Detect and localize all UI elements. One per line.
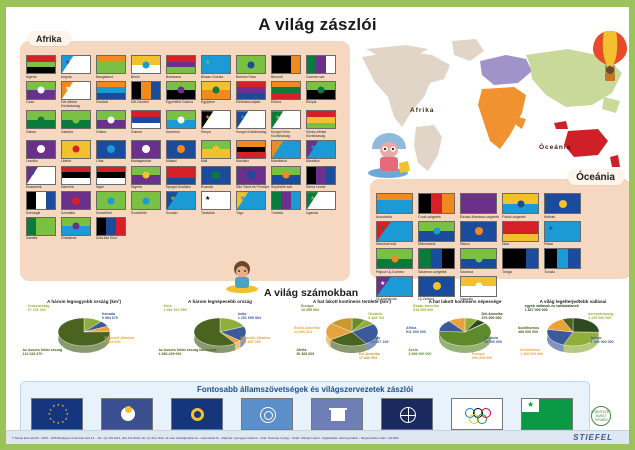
africa-flag-icon — [306, 166, 336, 185]
africa-flag-cell[interactable]: Zimbabwe — [61, 217, 96, 241]
pie-slice-label: buddhizmus488 000 000 — [518, 326, 539, 334]
chart-most-populous-countries: A három legnépesebb országKína1 361 512 … — [156, 299, 284, 377]
africa-flag-label: Kongói Köztársaság — [236, 130, 270, 134]
africa-flag-cell[interactable]: ★Mauritánia — [271, 140, 306, 164]
africa-flag-cell[interactable]: Botswana — [166, 55, 201, 79]
africa-flag-icon: ★ — [306, 140, 336, 159]
oceania-flag-cell[interactable]: Niue — [502, 221, 544, 247]
africa-flag-icon — [61, 191, 91, 210]
oceania-flag-label: Salamon-szigetek — [418, 270, 459, 274]
oceania-flag-cell[interactable]: Vanuatu — [460, 276, 502, 302]
pie-slice-value: 24 506 524 — [294, 330, 312, 334]
africa-flag-cell[interactable]: Tunézia — [271, 191, 306, 215]
africa-flag-cell[interactable]: ★Dél-Afrikai Köztársaság — [61, 81, 96, 109]
africa-flag-icon — [271, 81, 301, 100]
oceania-flag-icon — [460, 193, 497, 214]
pie-slice-value: 518 000 000 — [413, 308, 433, 312]
africa-flag-label: Szváziföld — [131, 211, 165, 215]
oceania-flag-cell[interactable]: Mikronézia — [418, 221, 460, 247]
africa-flag-label: Mauritius — [306, 159, 340, 163]
africa-flag-cell[interactable]: Gambia — [61, 110, 96, 138]
africa-flag-label: Líbia — [96, 159, 130, 163]
africa-flag-cell[interactable]: Nigéria — [131, 166, 166, 190]
oceania-flag-icon — [418, 248, 455, 269]
africa-flag-label: Banglaland — [96, 75, 130, 79]
africa-flag-icon — [166, 81, 196, 100]
africa-flag-cell[interactable]: ★Kenya — [201, 110, 236, 138]
africa-flag-label: Nigéria — [131, 185, 165, 189]
africa-flag-label: Kamerun — [166, 130, 200, 134]
africa-flag-cell[interactable]: Ruanda — [201, 166, 236, 190]
poster-root: A világ zászlói Afrika Óceánia — [0, 0, 635, 450]
africa-flag-icon — [236, 166, 266, 185]
africa-flag-icon — [96, 166, 126, 185]
africa-flag-icon — [306, 81, 336, 100]
map-label-africa: Afrika — [410, 107, 434, 114]
africa-flag-icon — [26, 191, 56, 210]
africa-flag-cell[interactable]: Kamerun — [166, 110, 201, 138]
africa-flag-cell[interactable]: Gabon — [26, 110, 61, 138]
oceania-flag-cell[interactable]: Új-Zéland — [418, 276, 460, 302]
africa-flag-label: Malawi — [166, 159, 200, 163]
africa-flag-label: Mauritánia — [271, 159, 305, 163]
africa-flag-label: Benin — [131, 75, 165, 79]
pie-slice-label: iszlám1 600 000 000 — [591, 336, 614, 344]
africa-flag-icon — [201, 166, 231, 185]
oceania-flag-grid: AusztráliaCook-szigetekÉszaki-Mariana-sz… — [376, 193, 626, 303]
africa-flag-icon — [201, 81, 231, 100]
africa-flag-icon — [131, 110, 161, 129]
africa-flag-label: Marokkó — [236, 159, 270, 163]
africa-flag-icon: ★ — [306, 191, 336, 210]
africa-flag-label: Zimbabwe — [61, 236, 95, 240]
africa-flag-cell[interactable]: Szomália — [61, 191, 96, 215]
africa-flag-icon: ★ — [26, 166, 56, 185]
oceania-heading: Óceánia — [568, 170, 624, 185]
africa-flag-icon — [306, 110, 336, 129]
africa-flag-cell[interactable]: Csád — [26, 81, 61, 109]
pie-chart: Európa10 395 504Óceánia8 428 702Ázsia31 … — [294, 308, 410, 366]
africa-flag-icon — [96, 140, 126, 159]
oceania-flag-icon — [418, 193, 455, 214]
organization-flag-icon: ★★★★★★★★★★★★ — [31, 398, 83, 430]
oceania-flag-cell[interactable]: Fidzsi-szigetek — [502, 193, 544, 219]
oceania-flag-cell[interactable]: Szamoa — [460, 248, 502, 274]
africa-flag-label: Comore-szk. — [306, 75, 340, 79]
africa-flag-label: Dél-Szudán — [131, 100, 165, 104]
africa-flag-label: São Tomé és Príncipe — [236, 185, 270, 189]
oceania-flag-label: Ausztrália — [376, 215, 417, 219]
oceania-flag-cell[interactable]: Pápua Új-Guinea — [376, 248, 418, 274]
africa-flag-icon — [61, 166, 91, 185]
africa-flag-icon — [131, 166, 161, 185]
stats-heading: A világ számokban — [264, 287, 358, 299]
chart-continent-population: A hat lakott kontinens népességeÉszak-Am… — [406, 299, 524, 377]
africa-flag-label: Gambia — [61, 130, 95, 134]
organization-flag-icon: ★ — [521, 398, 573, 430]
pie-slice-value: 17 101 230 — [28, 308, 46, 312]
africa-flag-cell[interactable]: Zöld-foki Közt. — [96, 217, 131, 241]
africa-flag-icon: ★ — [61, 55, 91, 74]
hot-air-balloon-illustration — [590, 29, 630, 83]
pie-slice-label: Észak-Amerika518 000 000 — [413, 304, 439, 312]
pie-slice-label: Egyesült Államok321 362 789 — [240, 336, 270, 344]
oceania-flag-icon — [376, 193, 413, 214]
africa-flag-label: Ghána — [96, 130, 130, 134]
africa-flag-icon — [236, 140, 266, 159]
africa-flag-icon — [271, 191, 301, 210]
oceania-flag-icon — [502, 248, 539, 269]
oceania-flag-icon — [418, 221, 455, 242]
africa-flag-icon — [96, 191, 126, 210]
pie-chart: egyéb vallások és vallástalanok1 827 000… — [518, 308, 628, 366]
africa-flag-icon — [26, 55, 56, 74]
pie-slice-label: kereszténység2 220 000 000 — [588, 312, 613, 320]
africa-flag-cell[interactable]: Egyiptom — [201, 81, 236, 109]
oceania-flag-cell[interactable]: Tuvalu — [544, 248, 586, 274]
pie-slice-value: 17 846 954 — [359, 356, 377, 360]
africa-flag-icon — [131, 140, 161, 159]
oceania-flag-icon — [418, 276, 455, 297]
africa-flag-cell[interactable]: Szváziföld — [96, 191, 131, 215]
organization-flag-icon — [241, 398, 293, 430]
africa-flag-cell[interactable]: Libéria — [61, 140, 96, 164]
oceania-flag-icon — [460, 276, 497, 297]
chart-continent-area: A hat lakott kontinens területe (km²)Eur… — [294, 299, 410, 377]
africa-flag-icon — [96, 110, 126, 129]
africa-flag-icon: ★ — [236, 110, 266, 129]
africa-flag-icon — [236, 81, 266, 100]
oceania-flag-cell[interactable]: Salamon-szigetek — [418, 248, 460, 274]
brand-logo: STIEFEL — [573, 433, 629, 442]
africa-flag-cell[interactable]: Eritrea — [271, 81, 306, 109]
pie-slice-label: Az összes többi ország lakossága4 380 42… — [159, 348, 217, 356]
africa-flag-cell[interactable]: Dél-Szudán — [131, 81, 166, 109]
oceania-flag-label: Fidzsi-szigetek — [502, 215, 543, 219]
africa-flag-label: Guinea — [131, 130, 165, 134]
oceania-flag-cell[interactable]: Északi-Mariana-szigetek — [460, 193, 502, 219]
oceania-flag-icon: ★ — [376, 221, 413, 242]
organization-flag-icon — [451, 398, 503, 430]
africa-flag-label: Kenya — [201, 130, 235, 134]
africa-flag-icon — [61, 140, 91, 159]
africa-flag-icon: ★ — [201, 55, 231, 74]
africa-flag-label: Mozambik — [26, 185, 60, 189]
africa-flag-label: Elefántcsontpart — [236, 100, 270, 104]
africa-flag-label: Burkina Faso — [236, 75, 270, 79]
africa-flag-label: Etiópia — [306, 100, 340, 104]
africa-flag-cell[interactable]: Burundi — [271, 55, 306, 79]
africa-flag-cell[interactable]: Malawi — [166, 140, 201, 164]
oceania-flag-cell[interactable]: Kiribati — [544, 193, 586, 219]
africa-flag-cell[interactable]: São Tomé és Príncipe — [236, 166, 271, 190]
pie-slice-value: 1 361 512 535 — [164, 308, 187, 312]
africa-flag-cell[interactable]: ★Szudán — [166, 191, 201, 215]
africa-flag-cell[interactable]: ★Mozambik — [26, 166, 61, 190]
africa-flag-icon: ★ — [201, 110, 231, 129]
africa-flag-label: Libéria — [61, 159, 95, 163]
africa-flag-cell[interactable]: Comore-szk. — [306, 55, 341, 79]
africa-flag-icon — [96, 81, 126, 100]
africa-flag-label: Lesotho — [26, 159, 60, 163]
oceania-flag-label: Nauru — [460, 242, 501, 246]
africa-flag-icon: ★ — [271, 110, 301, 129]
pie-slice-value: 321 362 789 — [240, 340, 260, 344]
pie-slice-label: Óceánia8 428 702 — [368, 312, 384, 320]
pie-slice-value: 1 600 000 000 — [591, 340, 614, 344]
oceania-flag-label: Tuvalu — [544, 270, 585, 274]
africa-flag-label: Egyiptom — [201, 100, 235, 104]
africa-flag-label: Angola — [61, 75, 95, 79]
africa-flag-label: Seychelle-szk. — [271, 185, 305, 189]
pie-slice-label: India1 251 695 584 — [238, 312, 261, 320]
africa-flag-cell[interactable]: Zambia — [26, 217, 61, 241]
oceania-flag-icon — [544, 248, 581, 269]
pie-slice-value: 376 000 000 — [482, 316, 502, 320]
africa-flag-cell[interactable]: Mali — [201, 140, 236, 164]
africa-flag-icon — [166, 110, 196, 129]
eco-label-icon: KÖRNYEZET BARÁT TERMÉK — [591, 406, 611, 426]
africa-flag-cell[interactable]: Etiópia — [306, 81, 341, 109]
pie-slice-value: 31 027 230 — [371, 340, 389, 344]
oceania-flag-icon — [502, 193, 539, 214]
africa-flag-icon: ★ — [201, 191, 231, 210]
africa-flag-cell[interactable]: ★Uganda — [306, 191, 341, 215]
africa-flag-cell[interactable]: Sierra Leone — [306, 166, 341, 190]
pie-chart: Észak-Amerika518 000 000Dél-Amerika376 0… — [406, 308, 524, 366]
africa-flag-cell[interactable]: ★Angola — [61, 55, 96, 79]
africa-flag-cell[interactable]: Burkina Faso — [236, 55, 271, 79]
africa-flag-label: Szomália — [61, 211, 95, 215]
africa-flag-label: Botswana — [166, 75, 200, 79]
pie-slice-label: Egyesült Államok9 826 630 — [104, 336, 134, 344]
pie-slice-label: egyéb vallások és vallástalanok1 827 000… — [525, 304, 579, 312]
oceania-flag-cell[interactable]: Cook-szigetek — [418, 193, 460, 219]
africa-flag-label: Namíbia — [61, 185, 95, 189]
africa-flag-icon — [306, 55, 336, 74]
africa-flag-cell[interactable]: Közép-Afrikai Köztársaság — [306, 110, 341, 138]
pie-chart: Oroszország17 101 230Kanada9 984 670Egye… — [20, 308, 148, 366]
africa-flag-icon — [61, 110, 91, 129]
africa-flag-label: Bissau-Guinea — [201, 75, 235, 79]
oceania-flag-label: Cook-szigetek — [418, 215, 459, 219]
oceania-flag-icon — [460, 248, 497, 269]
oceania-flag-cell[interactable]: ★Palau — [544, 221, 586, 247]
pie-slice-label: Észak-Amerika24 506 524 — [294, 326, 320, 334]
africa-flag-cell[interactable]: Madagaszkár — [131, 140, 166, 164]
pie-slice-label: Európa690 000 000 — [472, 352, 492, 360]
oceania-flag-icon — [544, 193, 581, 214]
pie-chart: Kína1 361 512 535India1 251 695 584Egyes… — [156, 308, 284, 366]
africa-flag-cell[interactable]: ★Togo — [236, 191, 271, 215]
pie-slice-label: Oroszország17 101 230 — [28, 304, 50, 312]
organizations-heading: Fontosabb államszövetségek és világszerv… — [21, 385, 589, 394]
africa-flag-cell[interactable]: Elefántcsontpart — [236, 81, 271, 109]
africa-flag-icon — [271, 55, 301, 74]
africa-flag-icon — [61, 217, 91, 236]
oceania-flag-cell[interactable]: Nauru — [460, 221, 502, 247]
africa-flag-icon — [131, 191, 161, 210]
pie-slice-label: Óceánia33 000 000 — [484, 336, 502, 344]
africa-flag-label: Kongói Dem. Köztársaság — [271, 130, 305, 138]
africa-flag-label: Közép-Afrikai Köztársaság — [306, 130, 340, 138]
africa-flag-icon — [201, 140, 231, 159]
oceania-flag-label: Marshall-szk. — [376, 242, 417, 246]
africa-flag-label: Dél-Afrikai Köztársaság — [61, 100, 95, 108]
oceania-flag-icon: ★ — [544, 221, 581, 242]
africa-flag-cell[interactable]: Marokkó — [236, 140, 271, 164]
africa-flag-label: Sierra Leone — [306, 185, 340, 189]
oceania-flag-label: Kiribati — [544, 215, 585, 219]
oceania-flag-icon — [376, 248, 413, 269]
oceania-flag-label: Mikronézia — [418, 242, 459, 246]
pie-slice-label: Afrika30 368 609 — [296, 348, 314, 356]
africa-flag-cell[interactable]: Nyugat-Szahara — [166, 166, 201, 190]
africa-flag-label: Szudán — [166, 211, 200, 215]
africa-flag-label: Egyenlítői-Guinea — [166, 100, 200, 104]
africa-flag-icon — [166, 166, 196, 185]
pie-slice-value: 33 000 000 — [484, 340, 502, 344]
africa-flag-label: Mali — [201, 159, 235, 163]
pie-slice-value: 8 428 702 — [368, 316, 384, 320]
pie-slice-label: Európa10 395 504 — [301, 304, 319, 312]
africa-flag-icon — [166, 55, 196, 74]
eco-label-text: KÖRNYEZET BARÁT TERMÉK — [591, 410, 610, 422]
organization-flag-icon — [381, 398, 433, 430]
africa-flag-label: Madagaszkár — [131, 159, 165, 163]
africa-flag-cell[interactable]: ★Bissau-Guinea — [201, 55, 236, 79]
oceania-flag-cell[interactable]: Tonga — [502, 248, 544, 274]
africa-flag-label: Algéria — [26, 75, 60, 79]
pie-slice-label: Az összes többi ország112 026 470 — [23, 348, 63, 356]
map-label-oceania: Óceánia — [539, 144, 571, 151]
africa-flag-cell[interactable]: Lesotho — [26, 140, 61, 164]
africa-flag-cell[interactable]: Seychelle-szk. — [271, 166, 306, 190]
africa-flag-label: Togo — [236, 211, 270, 215]
africa-flag-label: Ruanda — [201, 185, 235, 189]
africa-flag-cell[interactable]: Ghána — [96, 110, 131, 138]
africa-heading: Afrika — [28, 32, 71, 46]
pie-slice-value: 1 251 695 584 — [238, 316, 261, 320]
pie-slice-value: 9 984 670 — [102, 316, 118, 320]
oceania-flag-label: Palau — [544, 242, 585, 246]
africa-flag-cell[interactable]: Algéria — [26, 55, 61, 79]
africa-flag-icon — [26, 81, 56, 100]
africa-flag-icon — [271, 166, 301, 185]
pie-slice-label: Kanada9 984 670 — [102, 312, 118, 320]
africa-flag-label: Nyugat-Szahara — [166, 185, 200, 189]
pie-slice-label: Dél-Amerika376 000 000 — [482, 312, 503, 320]
pie-slice-value: 911 000 000 — [406, 330, 426, 334]
pie-slice-value: 10 395 504 — [301, 308, 319, 312]
oceania-flag-label: Niue — [502, 242, 543, 246]
pie-slice-value: 30 368 609 — [296, 352, 314, 356]
oceania-flags-panel: Óceánia AusztráliaCook-szigetekÉszaki-Ma… — [370, 179, 632, 279]
africa-flag-icon — [26, 217, 56, 236]
africa-flag-cell[interactable]: Niger — [96, 166, 131, 190]
pie-slice-value: 4 380 429 092 — [159, 352, 182, 356]
pie-slice-label: Afrika911 000 000 — [406, 326, 426, 334]
footer-credits: © Stiefel Eurocart Kft., 2015 - 1155 Bud… — [6, 436, 573, 440]
africa-flag-cell[interactable]: Namíbia — [61, 166, 96, 190]
oceania-flag-cell[interactable]: ★Új-Kaledónia — [376, 276, 418, 302]
africa-flag-label: Csád — [26, 100, 60, 104]
oceania-flag-label: Szamoa — [460, 270, 501, 274]
footer-bar: © Stiefel Eurocart Kft., 2015 - 1155 Bud… — [6, 430, 629, 444]
oceania-flag-icon: ★ — [376, 276, 413, 297]
africa-flag-cell[interactable]: Dzsibuti — [96, 81, 131, 109]
africa-flag-icon — [166, 140, 196, 159]
africa-flag-label: Niger — [96, 185, 130, 189]
child-illustration — [224, 259, 260, 293]
africa-flag-icon — [131, 81, 161, 100]
pie-slice-value: 3 998 000 000 — [408, 352, 431, 356]
africa-flag-cell[interactable]: Egyenlítői-Guinea — [166, 81, 201, 109]
africa-flag-label: Gabon — [26, 130, 60, 134]
chart-largest-countries: A három legnagyobb ország (km²)Oroszorsz… — [20, 299, 148, 377]
oceania-flag-label: Északi-Mariana-szigetek — [460, 215, 501, 219]
africa-flag-cell[interactable]: Banglaland — [96, 55, 131, 79]
oceania-flag-label: Pápua Új-Guinea — [376, 270, 417, 274]
oceania-flag-cell[interactable]: Ausztrália — [376, 193, 418, 219]
africa-flag-icon — [26, 110, 56, 129]
africa-flag-icon: ★ — [236, 191, 266, 210]
africa-flag-label: Eritrea — [271, 100, 305, 104]
pie-slice-label: hinduizmus1 100 000 000 — [520, 348, 543, 356]
africa-flag-icon: ★ — [271, 140, 301, 159]
oceania-flag-label: Tonga — [502, 270, 543, 274]
pie-slice-label: Dél-Amerika17 846 954 — [359, 352, 380, 360]
world-map: Afrika Óceánia — [354, 31, 635, 181]
africa-flag-label: Uganda — [306, 211, 340, 215]
africa-flag-label: Zambia — [26, 236, 60, 240]
pie-slice-value: 1 827 000 000 — [525, 308, 548, 312]
africa-flag-cell[interactable]: Szenegál — [26, 191, 61, 215]
pie-slice-value: 9 826 630 — [104, 340, 120, 344]
oceania-flag-icon — [460, 221, 497, 242]
africa-flag-cell[interactable]: ★Mauritius — [306, 140, 341, 164]
pie-slice-value: 690 000 000 — [472, 356, 492, 360]
africa-flag-cell[interactable]: ★Kongói Dem. Köztársaság — [271, 110, 306, 138]
africa-flag-icon: ★ — [166, 191, 196, 210]
africa-flag-cell[interactable]: Líbia — [96, 140, 131, 164]
pie-slice-value: 112 026 470 — [23, 352, 43, 356]
africa-flag-label: Tanzánia — [201, 211, 235, 215]
africa-flags-panel: Afrika Algéria★AngolaBanglalandBeninBots… — [20, 41, 350, 281]
organization-flag-icon — [311, 398, 363, 430]
africa-flag-cell[interactable]: ★Tanzánia — [201, 191, 236, 215]
africa-flag-cell[interactable]: Guinea — [131, 110, 166, 138]
africa-flag-cell[interactable]: Benin — [131, 55, 166, 79]
africa-flag-cell[interactable]: ★Kongói Köztársaság — [236, 110, 271, 138]
africa-flag-label: Burundi — [271, 75, 305, 79]
africa-flag-label: Tunézia — [271, 211, 305, 215]
africa-flag-label: Szenegál — [26, 211, 60, 215]
child-with-globe-illustration — [366, 127, 412, 179]
pie-slice-label: Ázsia3 998 000 000 — [408, 348, 431, 356]
africa-flag-icon — [236, 55, 266, 74]
organization-flag-icon — [101, 398, 153, 430]
africa-flag-icon — [96, 55, 126, 74]
chart-world-religions: A világ legelterjedtebb vallásaiegyéb va… — [518, 299, 628, 377]
pie-slice-label: Kína1 361 512 535 — [164, 304, 187, 312]
africa-flag-cell[interactable]: Szváziföld — [131, 191, 166, 215]
africa-flag-grid: Algéria★AngolaBanglalandBeninBotswana★Bi… — [26, 55, 344, 242]
organization-flag-icon — [171, 398, 223, 430]
oceania-flag-cell[interactable]: ★Marshall-szk. — [376, 221, 418, 247]
africa-flag-icon: ★ — [61, 81, 91, 100]
africa-flag-label: Szváziföld — [96, 211, 130, 215]
